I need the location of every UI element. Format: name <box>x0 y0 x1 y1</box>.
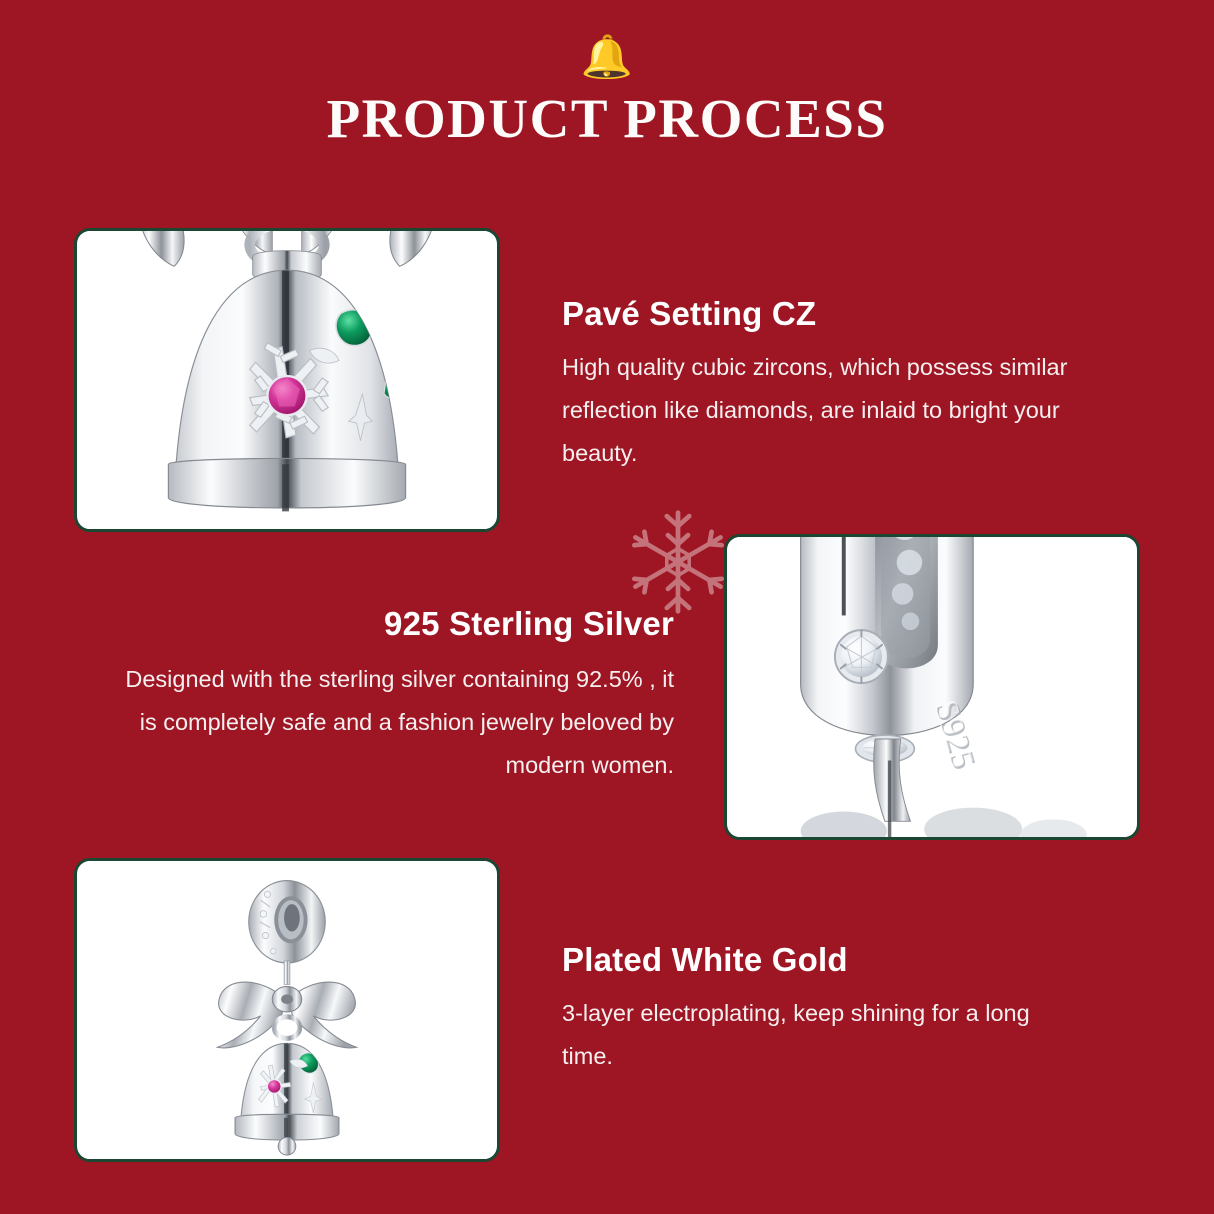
s925-hallmark-closeup-photo: S925 S925 <box>724 534 1140 840</box>
christmas-bells-emoji: 🔔 <box>0 34 1214 82</box>
page-header: 🔔 PRODUCT PROCESS <box>0 34 1214 150</box>
full-bell-pendant-photo <box>74 858 500 1162</box>
feature-description-925-sterling-silver: Designed with the sterling silver contai… <box>118 658 674 787</box>
feature-title-pave-setting-cz: Pavé Setting CZ <box>562 294 1092 334</box>
feature-block-925-sterling-silver: 925 Sterling Silver Designed with the st… <box>118 604 674 787</box>
feature-description-pave-setting-cz: High quality cubic zircons, which posses… <box>562 346 1092 475</box>
page-title: PRODUCT PROCESS <box>0 88 1214 150</box>
feature-description-plated-white-gold: 3-layer electroplating, keep shining for… <box>562 992 1062 1078</box>
feature-title-plated-white-gold: Plated White Gold <box>562 940 1062 980</box>
feature-block-plated-white-gold: Plated White Gold 3-layer electroplating… <box>562 940 1062 1078</box>
bell-snowflake-closeup-photo <box>74 228 500 532</box>
feature-block-pave-setting-cz: Pavé Setting CZ High quality cubic zirco… <box>562 294 1092 475</box>
bow-element <box>217 982 356 1048</box>
feature-title-925-sterling-silver: 925 Sterling Silver <box>118 604 674 644</box>
bail-ring <box>249 881 325 963</box>
